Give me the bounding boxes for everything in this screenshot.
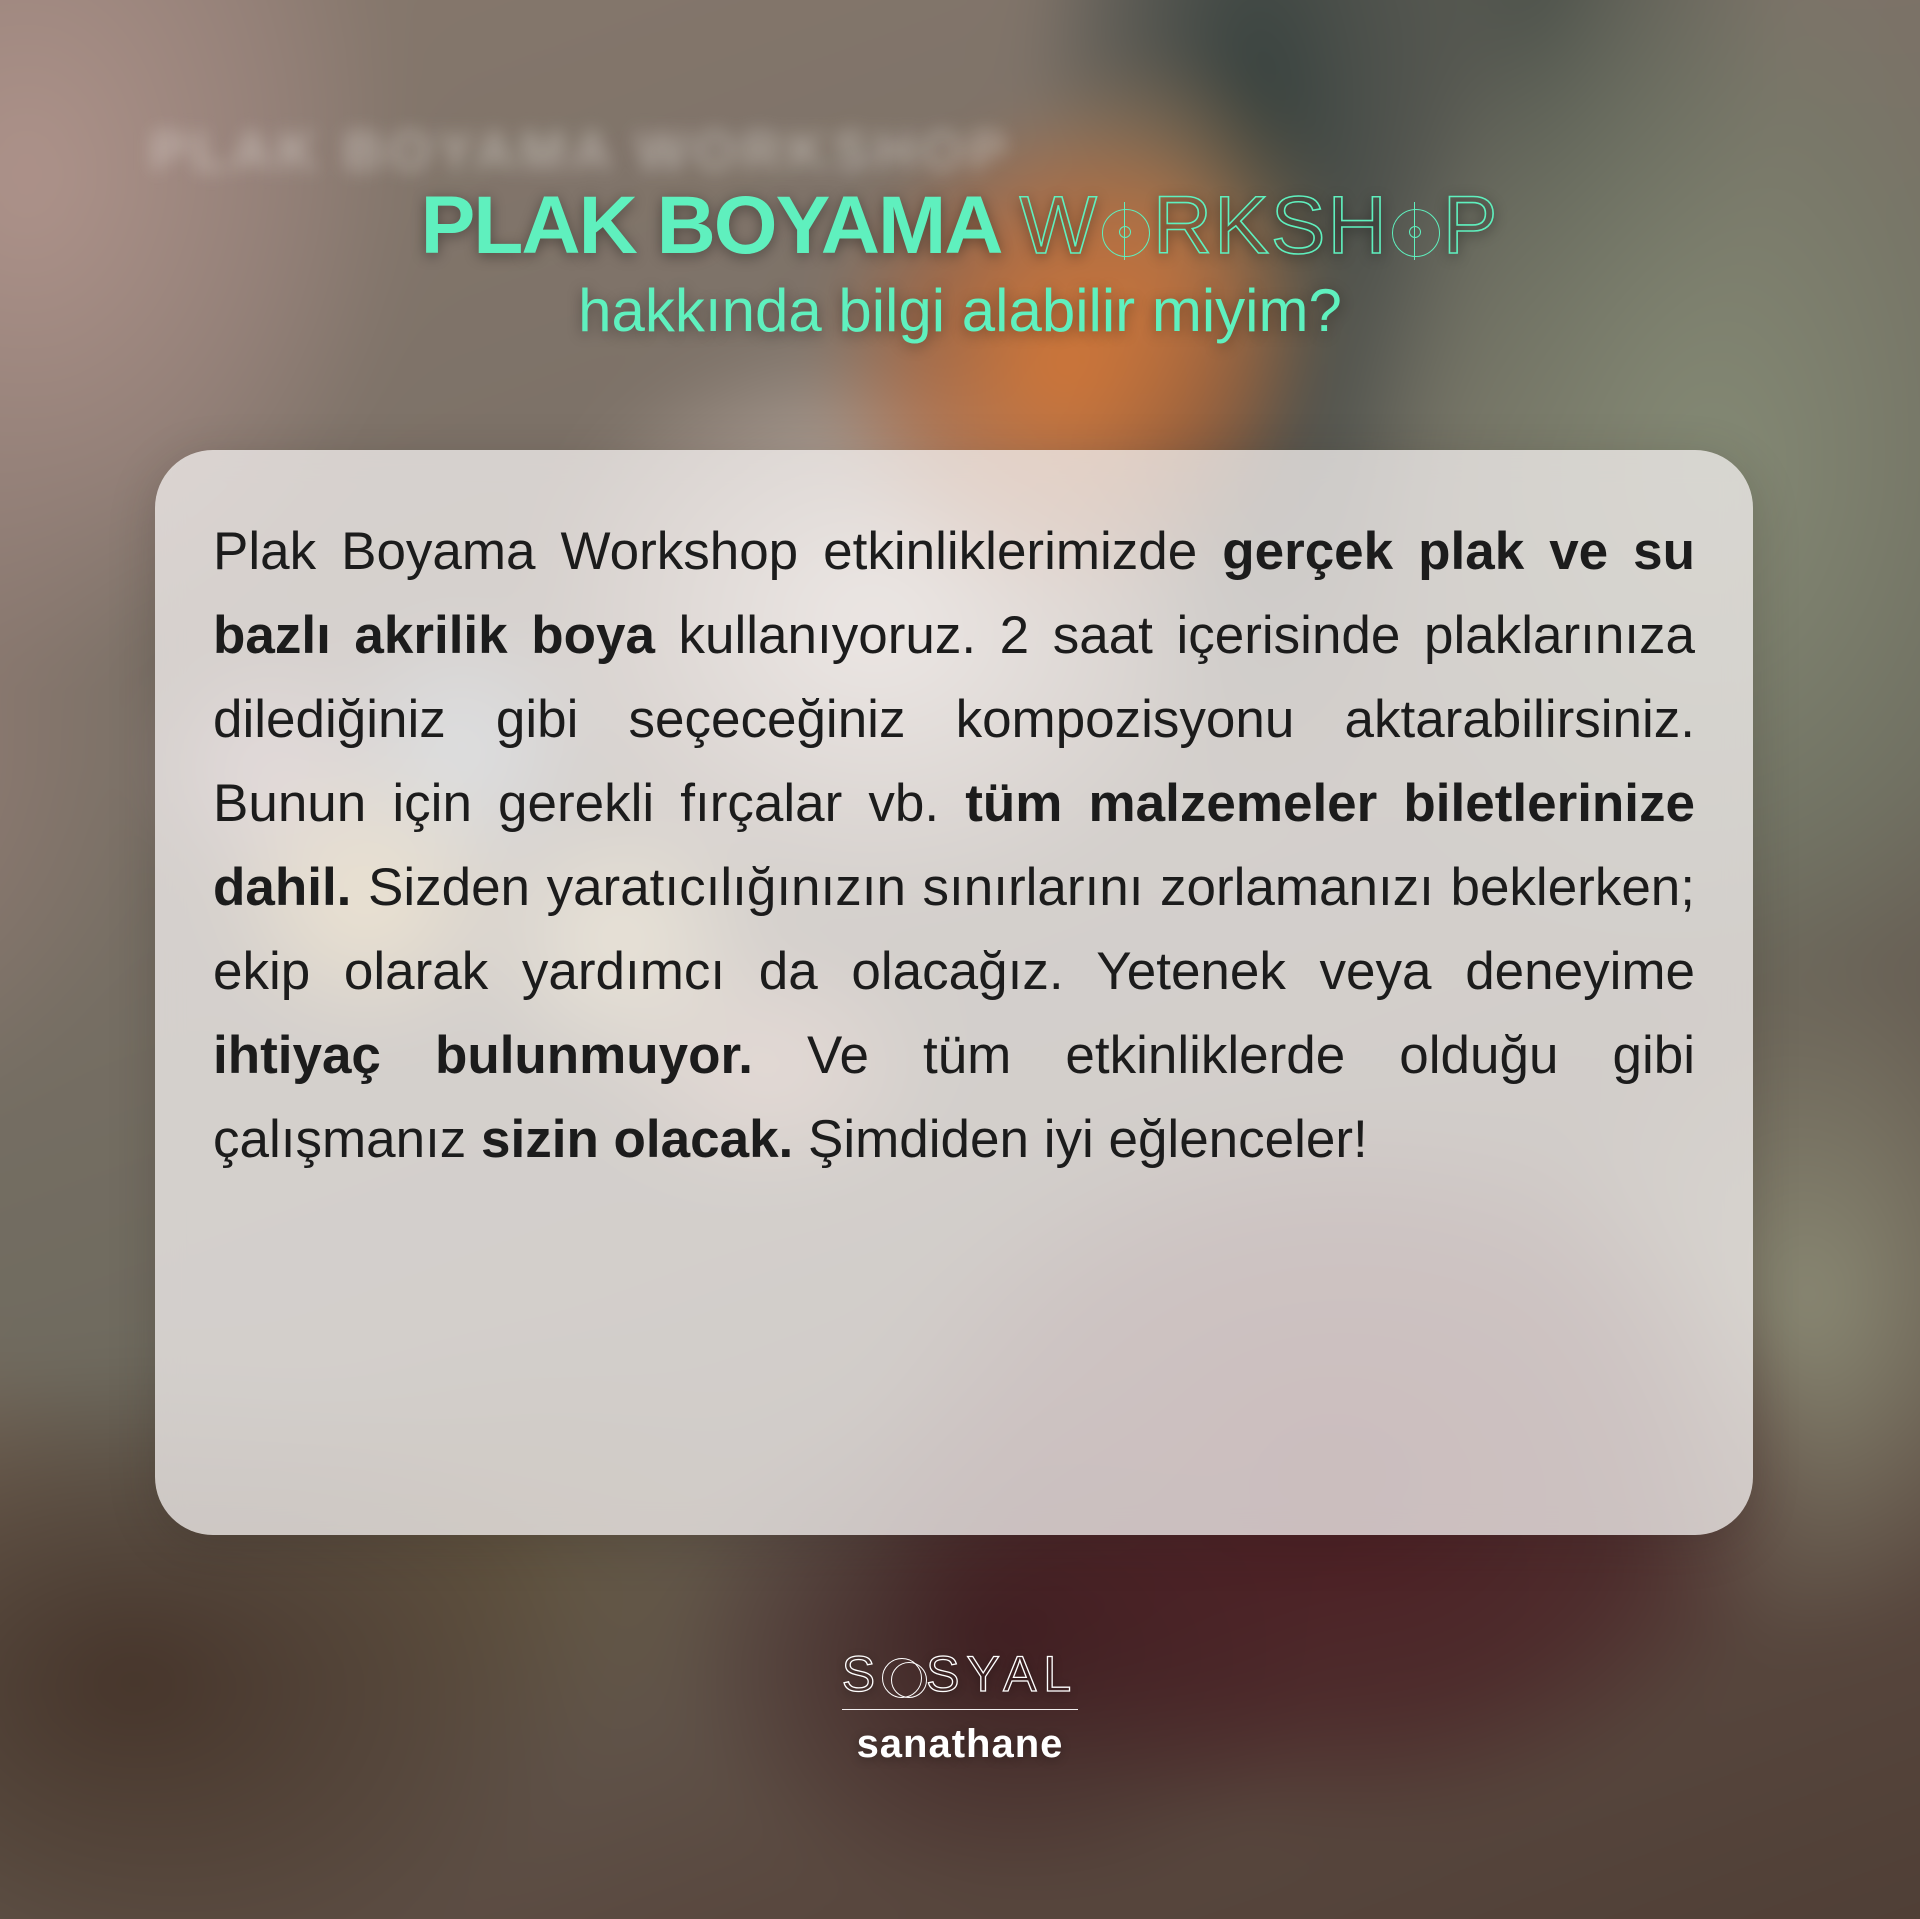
logo-double-o-icon xyxy=(882,1656,926,1700)
vinyl-record-o-icon-2 xyxy=(1390,202,1442,260)
body-segment-8: Şimdiden iyi eğlenceler! xyxy=(793,1110,1367,1169)
title-row: PLAK BOYAMAWRKSHP xyxy=(0,185,1920,267)
vinyl-record-hole-icon-2 xyxy=(1409,226,1421,238)
logo-syal-suffix: SYAL xyxy=(926,1646,1078,1702)
title-outline-text: WRKSHP xyxy=(1019,180,1499,271)
logo-sosyal-wordmark: SSYAL xyxy=(842,1649,1079,1710)
vinyl-record-o-icon xyxy=(1100,202,1152,260)
body-segment-4: Sizden yaratıcılığınızın sınırlarını zor… xyxy=(213,858,1695,1001)
background-ghost-headline: PLAK BOYAMA WORKSHOP xyxy=(150,118,1510,188)
logo-s-prefix: S xyxy=(842,1646,882,1702)
title-outline-part1: W xyxy=(1019,180,1098,271)
body-segment-0: Plak Boyama Workshop etkinliklerimizde xyxy=(213,522,1222,581)
title-outline-part3: P xyxy=(1443,180,1500,271)
poster-canvas: PLAK BOYAMA WORKSHOP PLAK BOYAMAWRKSHP h… xyxy=(0,0,1920,1919)
vinyl-record-hole-icon xyxy=(1119,226,1131,238)
title-solid-text: PLAK BOYAMA xyxy=(421,180,1002,271)
headline-block: PLAK BOYAMAWRKSHP hakkında bilgi alabili… xyxy=(0,185,1920,341)
info-card: Plak Boyama Workshop etkinliklerimizde g… xyxy=(155,450,1753,1535)
brand-logo: SSYAL sanathane xyxy=(0,1649,1920,1767)
logo-sanathane-wordmark: sanathane xyxy=(0,1722,1920,1767)
headline-subtitle: hakkında bilgi alabilir miyim? xyxy=(0,281,1920,341)
card-body-text: Plak Boyama Workshop etkinliklerimizde g… xyxy=(213,510,1695,1182)
body-segment-7: sizin olacak. xyxy=(481,1110,793,1169)
body-segment-5: ihtiyaç bulunmuyor. xyxy=(213,1026,753,1085)
title-outline-part2: RKSH xyxy=(1153,180,1389,271)
